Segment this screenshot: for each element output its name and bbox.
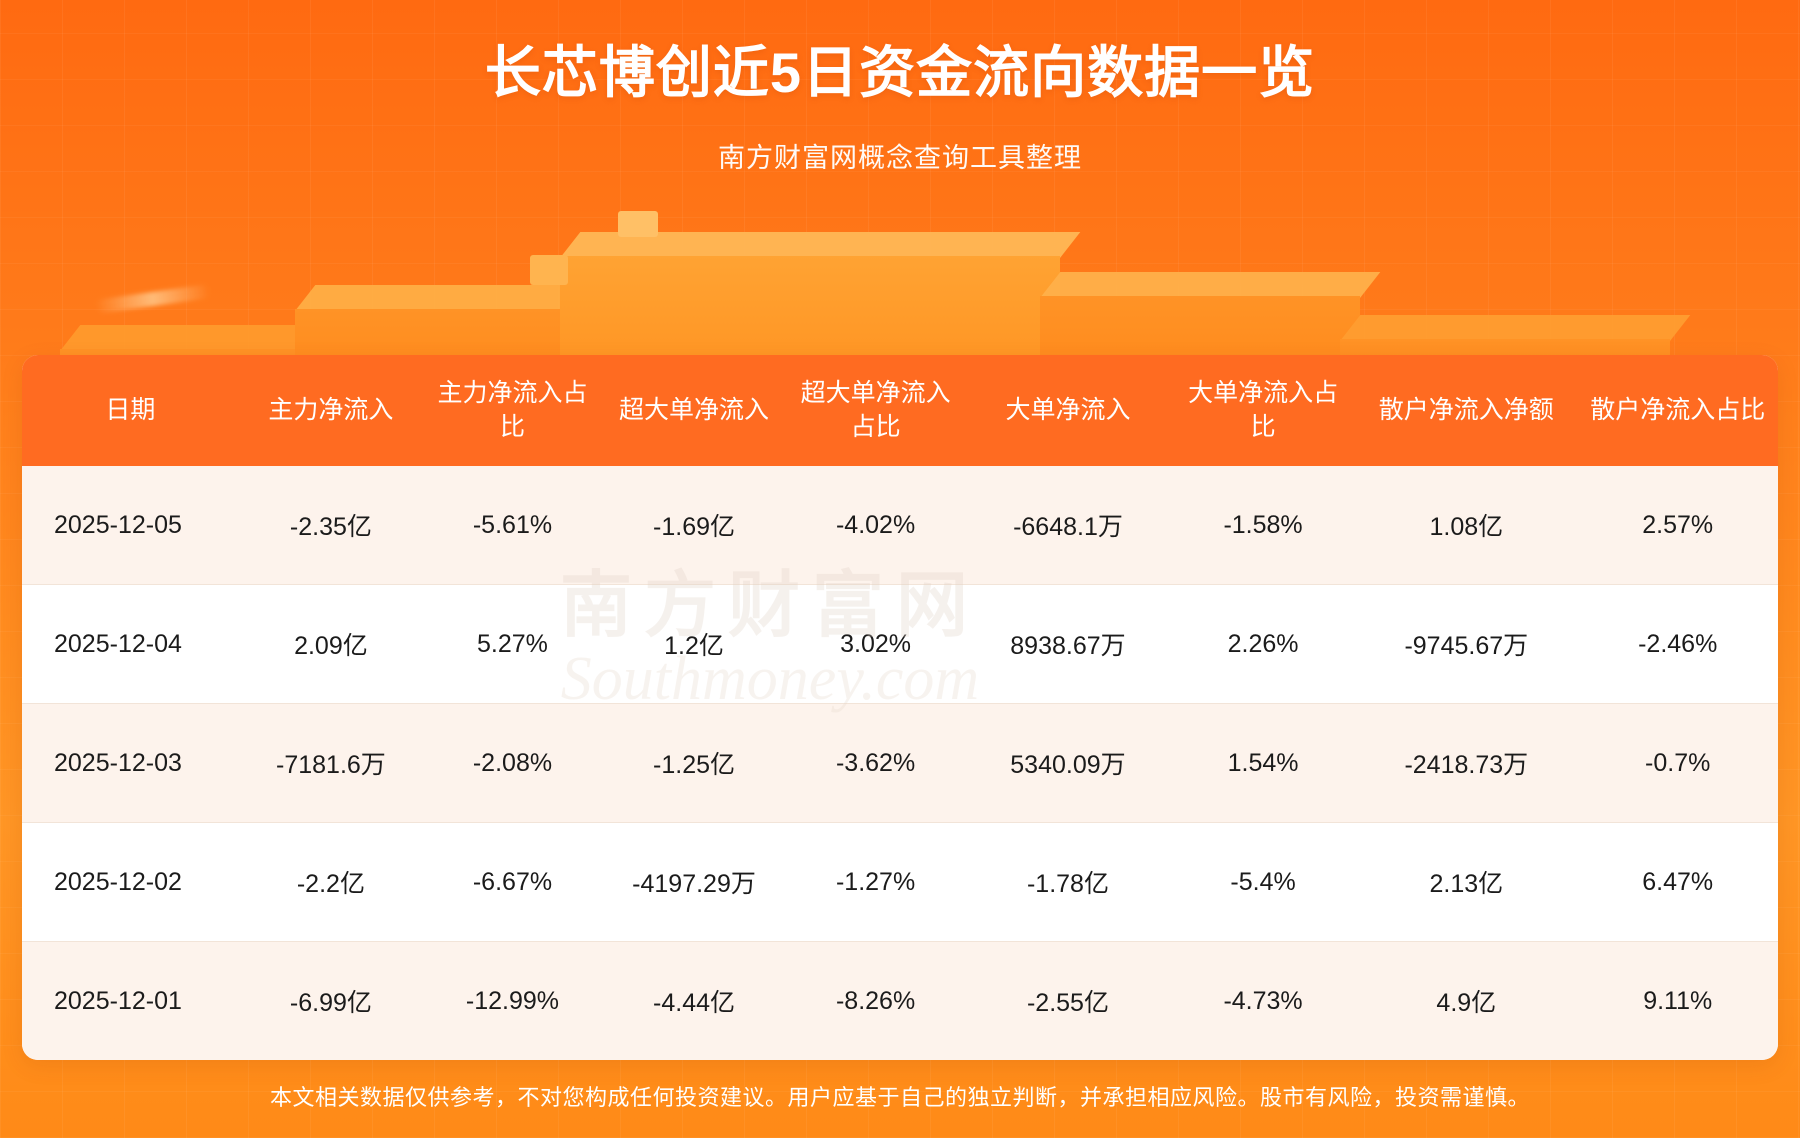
cell-large-net: -6648.1万 xyxy=(965,466,1171,585)
cell-main-net: -2.2亿 xyxy=(239,823,423,942)
cell-main-pct: -6.67% xyxy=(423,823,602,942)
cell-large-pct: -1.58% xyxy=(1171,466,1355,585)
cell-main-pct: -12.99% xyxy=(423,942,602,1061)
column-header-xl-net: 超大单净流入 xyxy=(602,355,786,466)
cell-main-net: -7181.6万 xyxy=(239,704,423,823)
cell-main-pct: -2.08% xyxy=(423,704,602,823)
decorative-podium xyxy=(0,212,1800,377)
data-table-card: 日期 主力净流入 主力净流入占比 超大单净流入 超大单净流入占比 大单净流入 大… xyxy=(22,355,1778,1060)
cell-retail-net: 2.13亿 xyxy=(1355,823,1577,942)
cell-date: 2025-12-02 xyxy=(22,823,239,942)
column-header-date: 日期 xyxy=(22,355,239,466)
cell-xl-pct: -8.26% xyxy=(786,942,965,1061)
cell-retail-net: -9745.67万 xyxy=(1355,585,1577,704)
cell-date: 2025-12-04 xyxy=(22,585,239,704)
cell-retail-pct: 9.11% xyxy=(1577,942,1778,1061)
cell-xl-pct: 3.02% xyxy=(786,585,965,704)
table-row: 2025-12-01 -6.99亿 -12.99% -4.44亿 -8.26% … xyxy=(22,942,1778,1061)
cell-retail-pct: 2.57% xyxy=(1577,466,1778,585)
table-row: 2025-12-04 2.09亿 5.27% 1.2亿 3.02% 8938.6… xyxy=(22,585,1778,704)
cell-date: 2025-12-05 xyxy=(22,466,239,585)
table-body: 2025-12-05 -2.35亿 -5.61% -1.69亿 -4.02% -… xyxy=(22,466,1778,1060)
cell-retail-net: -2418.73万 xyxy=(1355,704,1577,823)
cell-xl-net: -1.69亿 xyxy=(602,466,786,585)
table-header-row: 日期 主力净流入 主力净流入占比 超大单净流入 超大单净流入占比 大单净流入 大… xyxy=(22,355,1778,466)
poster-header: 长芯博创近5日资金流向数据一览 南方财富网概念查询工具整理 xyxy=(0,0,1800,175)
column-header-retail-pct: 散户净流入占比 xyxy=(1577,355,1778,466)
cell-large-net: -1.78亿 xyxy=(965,823,1171,942)
table-row: 2025-12-03 -7181.6万 -2.08% -1.25亿 -3.62%… xyxy=(22,704,1778,823)
cell-large-pct: -4.73% xyxy=(1171,942,1355,1061)
cell-large-pct: -5.4% xyxy=(1171,823,1355,942)
cell-main-net: -6.99亿 xyxy=(239,942,423,1061)
cell-retail-pct: -0.7% xyxy=(1577,704,1778,823)
cell-retail-pct: 6.47% xyxy=(1577,823,1778,942)
cell-xl-net: -4197.29万 xyxy=(602,823,786,942)
fund-flow-table: 日期 主力净流入 主力净流入占比 超大单净流入 超大单净流入占比 大单净流入 大… xyxy=(22,355,1778,1060)
page-title: 长芯博创近5日资金流向数据一览 xyxy=(0,38,1800,108)
decorative-streak xyxy=(95,284,211,314)
column-header-main-pct: 主力净流入占比 xyxy=(423,355,602,466)
cell-main-pct: -5.61% xyxy=(423,466,602,585)
cell-date: 2025-12-01 xyxy=(22,942,239,1061)
cell-xl-pct: -1.27% xyxy=(786,823,965,942)
disclaimer-text: 本文相关数据仅供参考，不对您构成任何投资建议。用户应基于自己的独立判断，并承担相… xyxy=(0,1080,1800,1112)
page-subtitle: 南方财富网概念查询工具整理 xyxy=(0,136,1800,175)
cell-large-pct: 1.54% xyxy=(1171,704,1355,823)
podium-cube xyxy=(530,255,568,285)
table-header: 日期 主力净流入 主力净流入占比 超大单净流入 超大单净流入占比 大单净流入 大… xyxy=(22,355,1778,466)
table-row: 2025-12-05 -2.35亿 -5.61% -1.69亿 -4.02% -… xyxy=(22,466,1778,585)
podium-cube xyxy=(618,211,658,237)
table-row: 2025-12-02 -2.2亿 -6.67% -4197.29万 -1.27%… xyxy=(22,823,1778,942)
poster-page: 长芯博创近5日资金流向数据一览 南方财富网概念查询工具整理 南方财富网 Sout… xyxy=(0,0,1800,1138)
cell-large-net: 8938.67万 xyxy=(965,585,1171,704)
cell-xl-net: 1.2亿 xyxy=(602,585,786,704)
cell-retail-pct: -2.46% xyxy=(1577,585,1778,704)
cell-main-net: 2.09亿 xyxy=(239,585,423,704)
cell-main-net: -2.35亿 xyxy=(239,466,423,585)
cell-large-pct: 2.26% xyxy=(1171,585,1355,704)
cell-retail-net: 4.9亿 xyxy=(1355,942,1577,1061)
column-header-retail-net: 散户净流入净额 xyxy=(1355,355,1577,466)
column-header-xl-pct: 超大单净流入占比 xyxy=(786,355,965,466)
cell-main-pct: 5.27% xyxy=(423,585,602,704)
cell-large-net: -2.55亿 xyxy=(965,942,1171,1061)
cell-xl-pct: -3.62% xyxy=(786,704,965,823)
cell-xl-pct: -4.02% xyxy=(786,466,965,585)
column-header-main-net: 主力净流入 xyxy=(239,355,423,466)
cell-date: 2025-12-03 xyxy=(22,704,239,823)
column-header-large-pct: 大单净流入占比 xyxy=(1171,355,1355,466)
cell-xl-net: -1.25亿 xyxy=(602,704,786,823)
cell-xl-net: -4.44亿 xyxy=(602,942,786,1061)
column-header-large-net: 大单净流入 xyxy=(965,355,1171,466)
cell-retail-net: 1.08亿 xyxy=(1355,466,1577,585)
cell-large-net: 5340.09万 xyxy=(965,704,1171,823)
